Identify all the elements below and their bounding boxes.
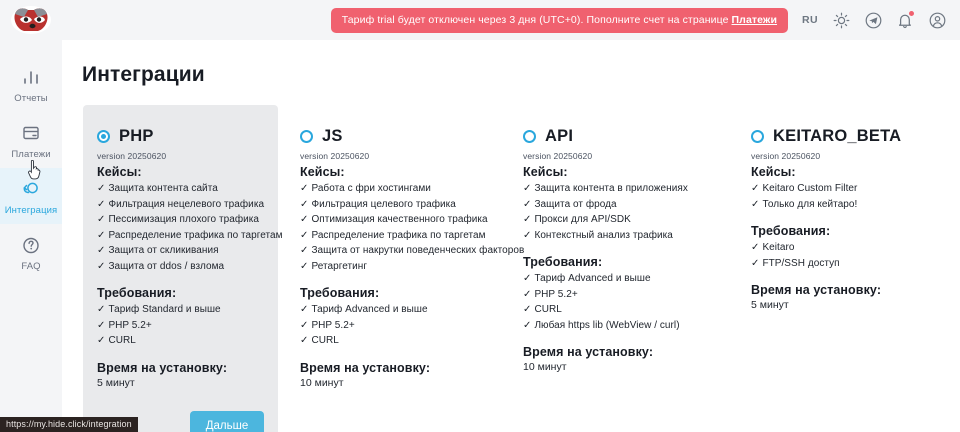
install-time-heading: Время на установку: (97, 361, 264, 375)
check-icon: ✓ (97, 199, 105, 210)
app-root: Отчеты Платежи (0, 0, 960, 432)
list-item: ✓Тариф Advanced и выше (300, 302, 467, 318)
list-item: ✓Защита контента сайта (97, 181, 264, 197)
card-header: KEITARO_BETA (751, 127, 928, 146)
list-item-label: Защита от фрода (534, 199, 616, 210)
language-switcher[interactable]: RU (802, 14, 818, 26)
check-icon: ✓ (300, 245, 308, 256)
list-item-label: Распределение трафика по таргетам (311, 230, 485, 241)
sun-icon[interactable] (832, 11, 850, 29)
integration-card-php[interactable]: PHP version 20250620 Кейсы: ✓Защита конт… (83, 105, 278, 432)
card-header: JS (300, 127, 467, 146)
check-icon: ✓ (523, 230, 531, 241)
sidebar-item-label: Интеграция (5, 205, 58, 216)
card-header: PHP (97, 127, 264, 146)
telegram-icon[interactable] (864, 11, 882, 29)
main-content: Интеграции PHP version 20250620 Кейсы: ✓… (62, 40, 960, 432)
list-item-label: Защита контента в приложениях (534, 183, 687, 194)
sidebar-item-reports[interactable]: Отчеты (0, 56, 62, 112)
integration-cards: PHP version 20250620 Кейсы: ✓Защита конт… (62, 105, 960, 432)
check-icon: ✓ (97, 335, 105, 346)
check-icon: ✓ (751, 242, 759, 253)
requirements-list: ✓Тариф Advanced и выше ✓PHP 5.2+ ✓CURL ✓… (523, 271, 695, 333)
integration-card-js[interactable]: JS version 20250620 Кейсы: ✓Работа с фри… (286, 105, 481, 403)
check-icon: ✓ (97, 261, 105, 272)
requirements-heading: Требования: (523, 255, 695, 269)
install-time-value: 10 минут (523, 361, 695, 373)
install-time-value: 5 минут (97, 377, 264, 389)
check-icon: ✓ (300, 261, 308, 272)
sidebar-item-faq[interactable]: FAQ (0, 224, 62, 280)
check-icon: ✓ (300, 230, 308, 241)
topbar-actions: RU (802, 11, 946, 29)
install-time-heading: Время на установку: (751, 283, 928, 297)
check-icon: ✓ (300, 335, 308, 346)
list-item: ✓Работа с фри хостингами (300, 181, 467, 197)
list-item-label: Только для кейтаро! (762, 199, 857, 210)
list-item-label: Оптимизация качественного трафика (311, 214, 487, 225)
card-version: version 20250620 (523, 151, 695, 161)
list-item: ✓CURL (97, 333, 264, 349)
list-item-label: Фильтрация нецелевого трафика (108, 199, 264, 210)
trial-alert-banner: Тариф trial будет отключен через 3 дня (… (331, 8, 788, 33)
cases-list: ✓Защита контента сайта ✓Фильтрация нецел… (97, 181, 264, 274)
sidebar-item-label: Отчеты (14, 93, 47, 104)
requirements-heading: Требования: (751, 224, 928, 238)
check-icon: ✓ (523, 320, 531, 331)
list-item-label: Keitaro Custom Filter (762, 183, 857, 194)
cases-list: ✓Keitaro Custom Filter ✓Только для кейта… (751, 181, 928, 212)
install-time-value: 10 минут (300, 377, 467, 389)
alert-payments-link[interactable]: Платежи (732, 14, 778, 26)
list-item: ✓Тариф Standard и выше (97, 302, 264, 318)
install-time-heading: Время на установку: (523, 345, 695, 359)
page-title: Интеграции (82, 63, 960, 87)
alert-text: Тариф trial будет отключен через 3 дня (… (342, 14, 729, 26)
sidebar-nav: Отчеты Платежи (0, 56, 62, 280)
list-item: ✓Защита от скликивания (97, 243, 264, 259)
check-icon: ✓ (97, 320, 105, 331)
card-version: version 20250620 (300, 151, 467, 161)
list-item: ✓Защита от ddos / взлома (97, 259, 264, 275)
check-icon: ✓ (523, 183, 531, 194)
check-icon: ✓ (523, 289, 531, 300)
cases-list: ✓Работа с фри хостингами ✓Фильтрация цел… (300, 181, 467, 274)
list-item: ✓Защита от накрутки поведенческих фактор… (300, 243, 467, 259)
check-icon: ✓ (751, 199, 759, 210)
list-item: ✓Пессимизация плохого трафика (97, 212, 264, 228)
question-circle-icon (18, 233, 44, 257)
integration-card-keitaro-beta[interactable]: KEITARO_BETA version 20250620 Кейсы: ✓Ke… (737, 105, 942, 325)
list-item-label: Фильтрация целевого трафика (311, 199, 455, 210)
cases-heading: Кейсы: (97, 165, 264, 179)
card-title: PHP (119, 127, 154, 146)
user-avatar-icon[interactable] (928, 11, 946, 29)
cases-list: ✓Защита контента в приложениях ✓Защита о… (523, 181, 695, 243)
list-item-label: Ретаргетинг (311, 261, 367, 272)
list-item-label: Контекстный анализ трафика (534, 230, 672, 241)
list-item-label: Работа с фри хостингами (311, 183, 430, 194)
integration-card-api[interactable]: API version 20250620 Кейсы: ✓Защита конт… (509, 105, 709, 387)
check-icon: ✓ (300, 183, 308, 194)
list-item-label: Пессимизация плохого трафика (108, 214, 259, 225)
check-icon: ✓ (523, 199, 531, 210)
list-item: ✓FTP/SSH доступ (751, 256, 928, 272)
list-item: ✓PHP 5.2+ (523, 287, 695, 303)
list-item: ✓CURL (300, 333, 467, 349)
next-button[interactable]: Дальше (190, 411, 264, 432)
list-item: ✓Только для кейтаро! (751, 197, 928, 213)
list-item-label: CURL (311, 335, 338, 346)
list-item: ✓Любая https lib (WebView / curl) (523, 318, 695, 334)
list-item-label: FTP/SSH доступ (762, 258, 839, 269)
list-item-label: Keitaro (762, 242, 794, 253)
list-item-label: Тариф Advanced и выше (311, 304, 427, 315)
check-icon: ✓ (300, 214, 308, 225)
list-item-label: Защита контента сайта (108, 183, 217, 194)
list-item: ✓PHP 5.2+ (97, 318, 264, 334)
topbar: Тариф trial будет отключен через 3 дня (… (62, 0, 960, 40)
install-time-value: 5 минут (751, 299, 928, 311)
list-item-label: Тариф Standard и выше (108, 304, 220, 315)
radio-js[interactable] (300, 130, 313, 143)
list-item-label: Защита от накрутки поведенческих факторо… (311, 245, 524, 256)
cases-heading: Кейсы: (300, 165, 467, 179)
radio-php[interactable] (97, 130, 110, 143)
check-icon: ✓ (97, 230, 105, 241)
bar-chart-icon (18, 65, 44, 89)
check-icon: ✓ (300, 320, 308, 331)
list-item-label: PHP 5.2+ (534, 289, 577, 300)
status-bar-url: https://my.hide.click/integration (0, 417, 138, 432)
list-item: ✓Распределение трафика по таргетам (300, 228, 467, 244)
list-item: ✓Ретаргетинг (300, 259, 467, 275)
list-item: ✓Фильтрация целевого трафика (300, 197, 467, 213)
sidebar-item-label: Платежи (11, 149, 50, 160)
cases-heading: Кейсы: (751, 165, 928, 179)
check-icon: ✓ (523, 273, 531, 284)
check-icon: ✓ (523, 304, 531, 315)
sidebar: Отчеты Платежи (0, 0, 62, 432)
check-icon: ✓ (97, 214, 105, 225)
radio-api[interactable] (523, 130, 536, 143)
list-item-label: Любая https lib (WebView / curl) (534, 320, 679, 331)
requirements-heading: Требования: (300, 286, 467, 300)
list-item-label: Защита от ddos / взлома (108, 261, 224, 272)
list-item-label: PHP 5.2+ (311, 320, 354, 331)
notification-badge (908, 10, 915, 17)
list-item: ✓Keitaro (751, 240, 928, 256)
list-item-label: CURL (108, 335, 135, 346)
card-icon (18, 121, 44, 145)
sidebar-item-integration[interactable]: Интеграция (0, 168, 62, 224)
check-icon: ✓ (751, 183, 759, 194)
requirements-list: ✓Тариф Standard и выше ✓PHP 5.2+ ✓CURL (97, 302, 264, 349)
install-time-heading: Время на установку: (300, 361, 467, 375)
check-icon: ✓ (97, 304, 105, 315)
check-icon: ✓ (300, 199, 308, 210)
raccoon-logo (9, 4, 53, 36)
list-item: ✓Защита контента в приложениях (523, 181, 695, 197)
list-item: ✓CURL (523, 302, 695, 318)
card-title: KEITARO_BETA (773, 127, 901, 146)
card-version: version 20250620 (751, 151, 928, 161)
list-item: ✓Контекстный анализ трафика (523, 228, 695, 244)
cases-heading: Кейсы: (523, 165, 695, 179)
check-icon: ✓ (523, 214, 531, 225)
list-item: ✓Распределение трафика по таргетам (97, 228, 264, 244)
list-item: ✓Фильтрация нецелевого трафика (97, 197, 264, 213)
requirements-list: ✓Keitaro ✓FTP/SSH доступ (751, 240, 928, 271)
bell-icon[interactable] (896, 11, 914, 29)
list-item-label: CURL (534, 304, 561, 315)
list-item: ✓Оптимизация качественного трафика (300, 212, 467, 228)
list-item: ✓Keitaro Custom Filter (751, 181, 928, 197)
list-item: ✓Защита от фрода (523, 197, 695, 213)
check-icon: ✓ (300, 304, 308, 315)
list-item-label: Распределение трафика по таргетам (108, 230, 282, 241)
sidebar-item-label: FAQ (21, 261, 40, 272)
list-item-label: Тариф Advanced и выше (534, 273, 650, 284)
card-title: API (545, 127, 573, 146)
list-item-label: Защита от скликивания (108, 245, 218, 256)
list-item: ✓Тариф Advanced и выше (523, 271, 695, 287)
card-title: JS (322, 127, 343, 146)
requirements-list: ✓Тариф Advanced и выше ✓PHP 5.2+ ✓CURL (300, 302, 467, 349)
list-item: ✓PHP 5.2+ (300, 318, 467, 334)
card-header: API (523, 127, 695, 146)
requirements-heading: Требования: (97, 286, 264, 300)
list-item-label: Прокси для API/SDK (534, 214, 630, 225)
list-item: ✓Прокси для API/SDK (523, 212, 695, 228)
logo-wrapper[interactable] (0, 0, 62, 40)
check-icon: ✓ (751, 258, 759, 269)
sidebar-item-payments[interactable]: Платежи (0, 112, 62, 168)
card-version: version 20250620 (97, 151, 264, 161)
list-item-label: PHP 5.2+ (108, 320, 151, 331)
integration-icon (18, 177, 44, 201)
check-icon: ✓ (97, 245, 105, 256)
radio-keitaro-beta[interactable] (751, 130, 764, 143)
check-icon: ✓ (97, 183, 105, 194)
